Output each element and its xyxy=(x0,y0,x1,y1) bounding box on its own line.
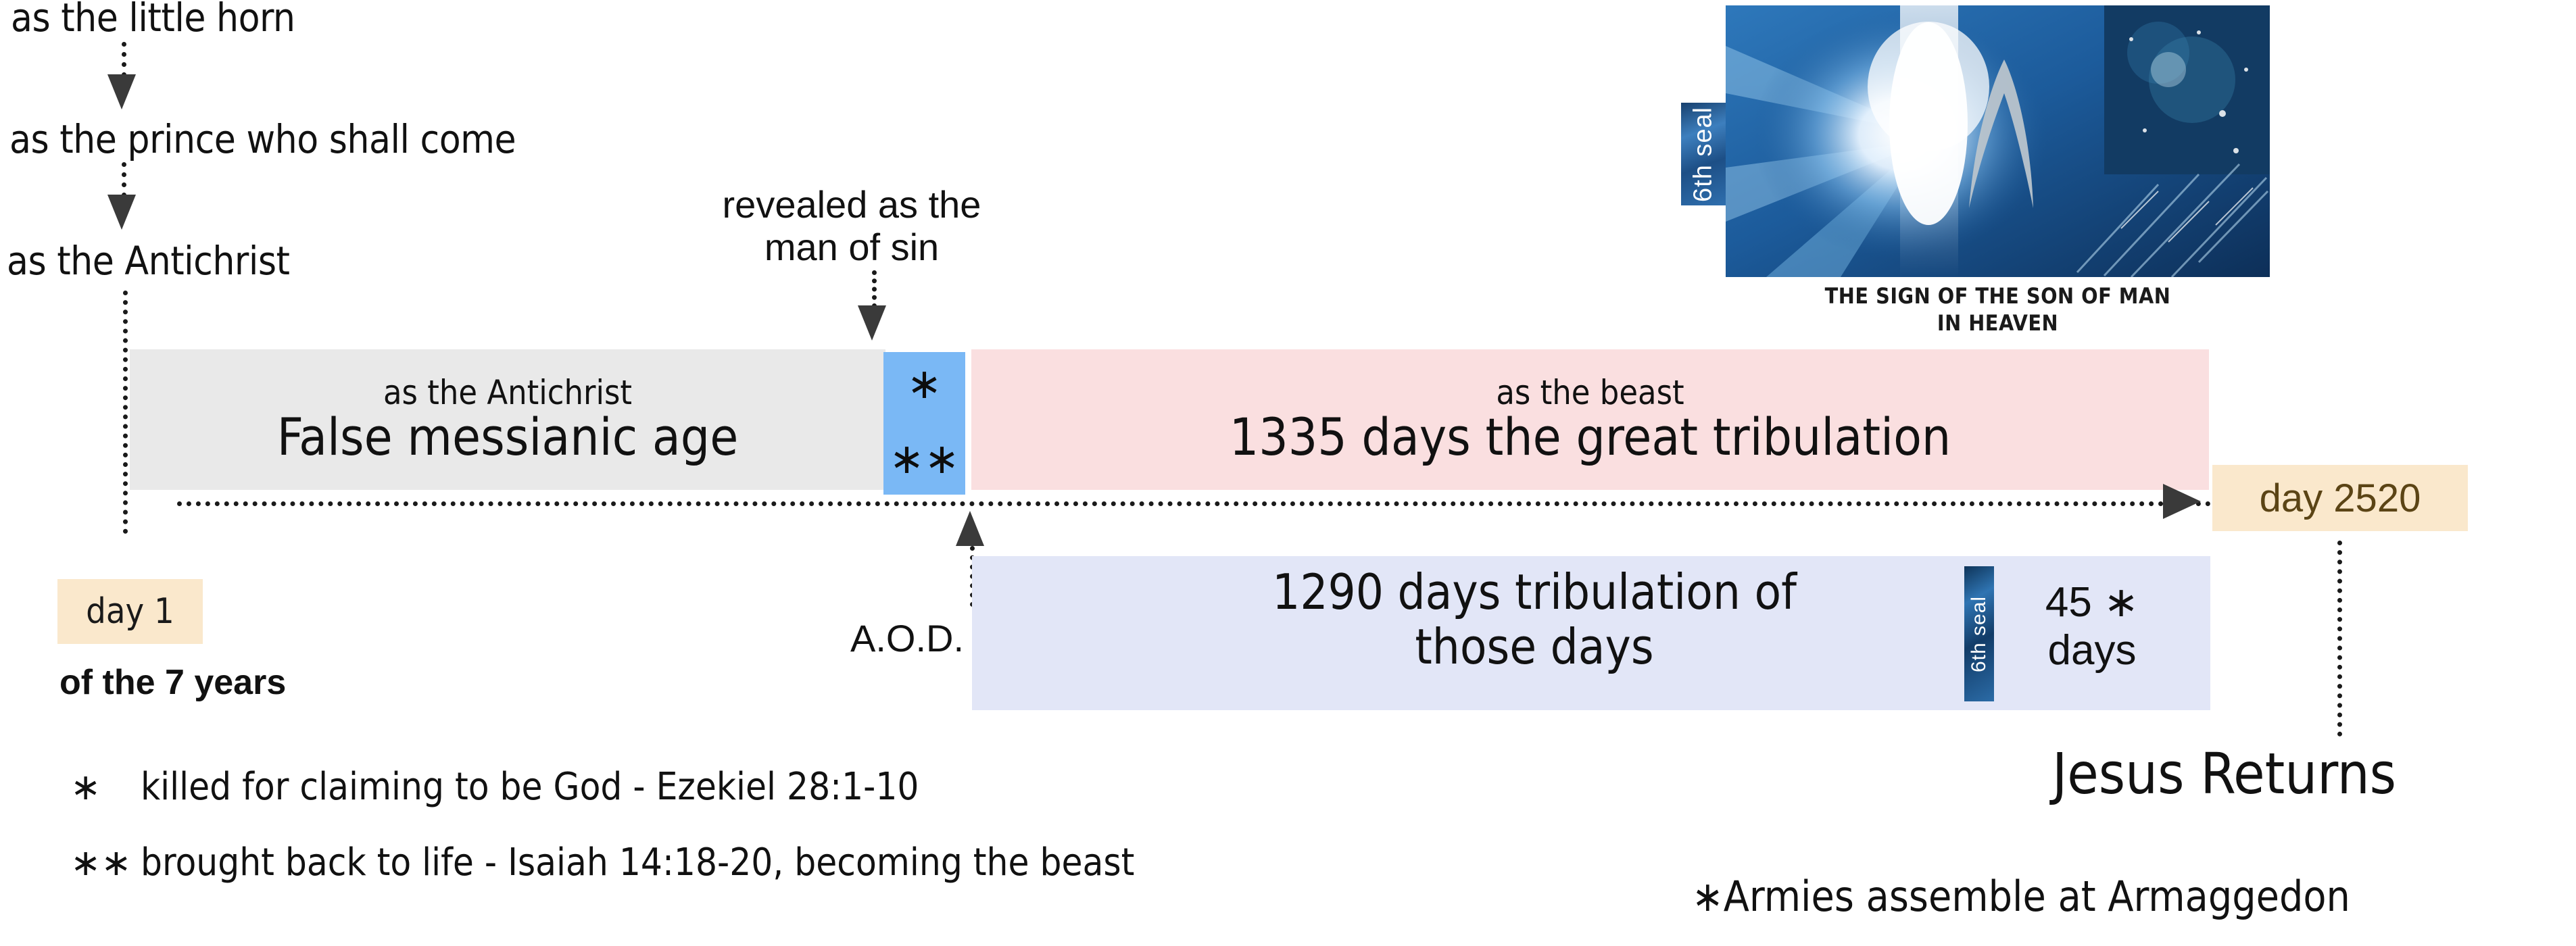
footnote-1: ∗killed for claiming to be God - Ezekiel… xyxy=(70,765,919,809)
bar-false-messianic-age[interactable]: as the Antichrist False messianic age xyxy=(130,349,885,490)
label-antichrist: as the Antichrist xyxy=(7,238,290,284)
connector-revealed-to-bar xyxy=(872,270,877,308)
bar-great-tribulation[interactable]: as the beast 1335 days the great tribula… xyxy=(971,349,2209,490)
callout-revealed-man-of-sin: revealed as the man of sin xyxy=(676,184,1027,268)
label-jesus-returns: Jesus Returns xyxy=(2052,741,2396,807)
seal-tab-label: 6th seal xyxy=(1681,103,1726,205)
arrow-down-icon-3 xyxy=(858,305,886,341)
arrow-down-icon-2 xyxy=(107,195,136,230)
footnote-2-mark: ∗∗ xyxy=(70,841,141,884)
seal-tab-image: 6th seal xyxy=(1681,103,1726,205)
tail-45-line2: days xyxy=(2014,626,2170,674)
footnote-2: ∗∗brought back to life - Isaiah 14:18-20… xyxy=(70,841,1134,885)
footnote-2-text: brought back to life - Isaiah 14:18-20, … xyxy=(141,841,1134,885)
label-prince-who-shall-come: as the prince who shall come xyxy=(9,116,516,162)
asterisk-single: ∗ xyxy=(907,363,942,405)
asterisk-double: ∗∗ xyxy=(890,438,960,480)
footnote-1-text: killed for claiming to be God - Ezekiel … xyxy=(141,765,919,809)
day-2520-chip[interactable]: day 2520 xyxy=(2212,465,2468,531)
asterisk-marker-box[interactable]: ∗ ∗∗ xyxy=(883,352,965,495)
footnote-1-mark: ∗ xyxy=(70,766,141,808)
bar-pink-title: 1335 days the great tribulation xyxy=(1230,410,1951,464)
connector-2520-to-jesus-returns xyxy=(2337,541,2342,737)
tail-45-line1: 45 ∗ xyxy=(2014,578,2170,626)
callout-revealed-line2: man of sin xyxy=(676,226,1027,269)
tail-45-days: 45 ∗ days xyxy=(2014,578,2170,675)
timeline-start-marker xyxy=(123,291,128,534)
label-little-horn: as the little horn xyxy=(11,0,295,41)
bar-lavender-line1: 1290 days tribulation of xyxy=(1142,565,1926,620)
day-1-chip[interactable]: day 1 xyxy=(57,579,203,644)
seal-image-caption: THE SIGN OF THE SON OF MAN IN HEAVEN xyxy=(1726,282,2270,337)
sign-of-son-of-man-image xyxy=(1726,5,2270,277)
bar-lavender-title: 1290 days tribulation of those days xyxy=(1142,565,1926,674)
arrow-up-icon-aod xyxy=(956,511,984,546)
seal-tab-lavender: 6th seal xyxy=(1964,566,1994,701)
callout-revealed-line1: revealed as the xyxy=(676,184,1027,226)
day-1-note: of the 7 years xyxy=(59,662,286,703)
timeline-axis xyxy=(177,501,2212,506)
bar-grey-subtitle: as the Antichrist xyxy=(383,375,632,411)
connector-prince-to-antichrist xyxy=(122,162,126,197)
label-armies-armaggedon: ∗Armies assemble at Armaggedon xyxy=(1692,872,2350,921)
arrow-right-icon-timeline-end xyxy=(2163,484,2201,519)
bar-grey-title: False messianic age xyxy=(277,410,739,464)
bar-lavender-line2: those days xyxy=(1142,620,1926,674)
caption-line2: IN HEAVEN xyxy=(1726,309,2270,337)
caption-line1: THE SIGN OF THE SON OF MAN xyxy=(1726,282,2270,309)
arrow-down-icon-1 xyxy=(107,74,136,109)
sign-of-son-of-man-artwork xyxy=(1726,5,2270,277)
bar-pink-subtitle: as the beast xyxy=(1496,375,1684,411)
connector-horn-to-prince xyxy=(122,42,126,77)
